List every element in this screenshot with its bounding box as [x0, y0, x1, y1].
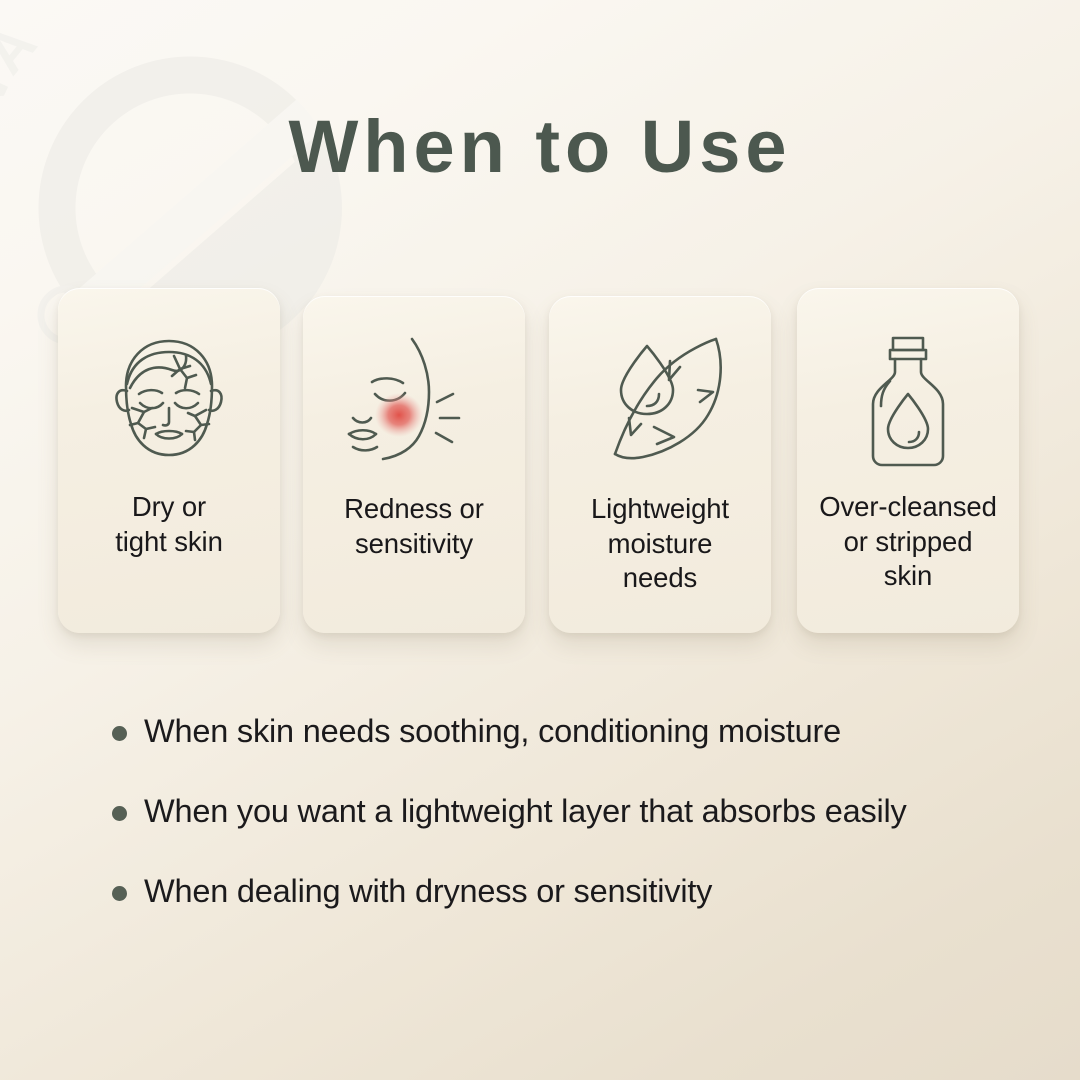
card-label: Over-cleansedor strippedskin — [806, 490, 1011, 594]
droplet-highlight — [647, 394, 659, 406]
card-label: Dry ortight skin — [67, 490, 272, 559]
card-label-line: Over-cleansed — [819, 491, 997, 522]
redness-sensitivity-face-icon — [339, 330, 489, 480]
bottle-collar — [890, 350, 926, 359]
card-redness-sensitivity[interactable]: Redness orsensitivity — [303, 296, 525, 633]
bottle-droplet-highlight — [909, 432, 919, 442]
irritation-blob — [375, 393, 423, 437]
page-title: When to Use — [0, 108, 1080, 186]
list-item: When dealing with dryness or sensitivity — [112, 872, 1012, 952]
card-label-line: moisture — [608, 528, 713, 559]
bullet-dot-icon — [112, 726, 127, 741]
card-label: Lightweightmoistureneeds — [558, 492, 763, 596]
card-label-line: Redness or — [344, 493, 484, 524]
card-label-line: Lightweight — [591, 493, 729, 524]
list-item: When you want a lightweight layer that a… — [112, 792, 1012, 872]
bullet-dot-icon — [112, 886, 127, 901]
benefits-list: When skin needs soothing, conditioning m… — [112, 712, 1012, 952]
feather-spine — [615, 339, 716, 454]
card-label-line: needs — [623, 562, 697, 593]
card-dry-tight-skin[interactable]: Dry ortight skin — [58, 288, 280, 633]
bottle-cap — [893, 338, 923, 350]
card-label: Redness orsensitivity — [312, 492, 517, 561]
irritation-rays — [436, 394, 459, 442]
poster-canvas: MIANA When to Use — [0, 0, 1080, 1080]
list-item-text: When you want a lightweight layer that a… — [144, 792, 907, 831]
card-label-line: or stripped — [844, 526, 973, 557]
card-lightweight-moisture[interactable]: Lightweightmoistureneeds — [549, 296, 771, 633]
list-item-text: When dealing with dryness or sensitivity — [144, 872, 712, 911]
bullet-dot-icon — [112, 806, 127, 821]
card-row: Dry ortight skin — [0, 288, 1080, 638]
droplet-shape — [621, 346, 673, 414]
list-item: When skin needs soothing, conditioning m… — [112, 712, 1012, 792]
dry-cracked-face-icon — [94, 328, 244, 478]
bottle-droplet-shape — [888, 394, 928, 448]
list-item-text: When skin needs soothing, conditioning m… — [144, 712, 841, 751]
card-label-line: sensitivity — [355, 528, 473, 559]
card-over-cleansed-skin[interactable]: Over-cleansedor strippedskin — [797, 288, 1019, 633]
card-label-line: tight skin — [115, 526, 223, 557]
bottle-droplet-icon — [833, 328, 983, 478]
feather-droplet-icon — [585, 330, 735, 480]
card-label-line: skin — [884, 560, 933, 591]
card-label-line: Dry or — [132, 491, 206, 522]
